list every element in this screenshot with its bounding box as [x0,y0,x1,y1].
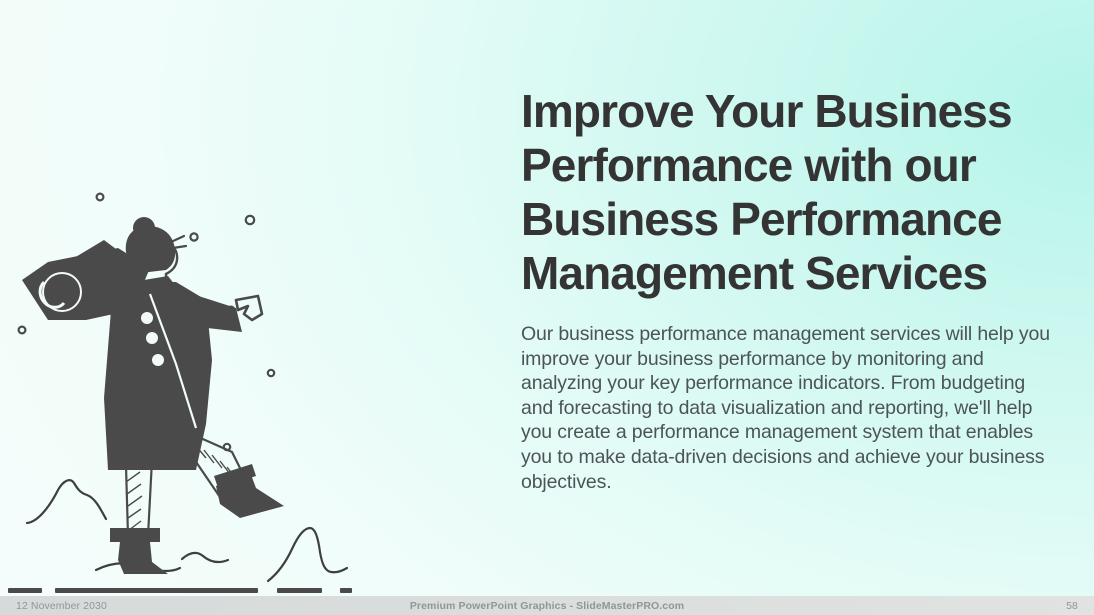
ground-dash-group [0,586,600,596]
ground-dash [55,588,258,593]
snowflake-dot [268,370,274,376]
extended-hand [236,296,262,320]
page-title: Improve Your Business Performance with o… [521,84,1051,300]
slide-footer: 12 November 2030 Premium PowerPoint Grap… [0,596,1094,615]
snow-mound [268,528,347,581]
ground-dash [277,588,322,593]
snowflake-dot [19,327,26,334]
snowflake-dot [246,216,254,224]
slide-canvas: Improve Your Business Performance with o… [0,0,1094,615]
ground-dash [8,588,42,593]
ground-dash [340,588,352,593]
snow-mound [182,553,228,562]
boot-back-cuff [110,528,160,542]
snow-mound [27,480,106,523]
body-paragraph: Our business performance management serv… [521,322,1051,494]
snow-mound-group [27,480,347,581]
snowflake-dot [97,194,104,201]
coat-button [152,354,164,366]
boot-back [118,542,168,574]
hair [126,226,175,274]
character-figure [22,217,284,574]
person-throwing-snowball-illustration [0,170,370,595]
extended-arm-sleeve [186,292,242,332]
coat-button [141,312,153,324]
snowflake-dot [190,233,197,240]
footer-credit: Premium PowerPoint Graphics - SlideMaste… [0,600,1094,612]
footer-page-number: 58 [1066,600,1078,612]
text-column: Improve Your Business Performance with o… [521,84,1051,494]
coat-button [146,332,158,344]
